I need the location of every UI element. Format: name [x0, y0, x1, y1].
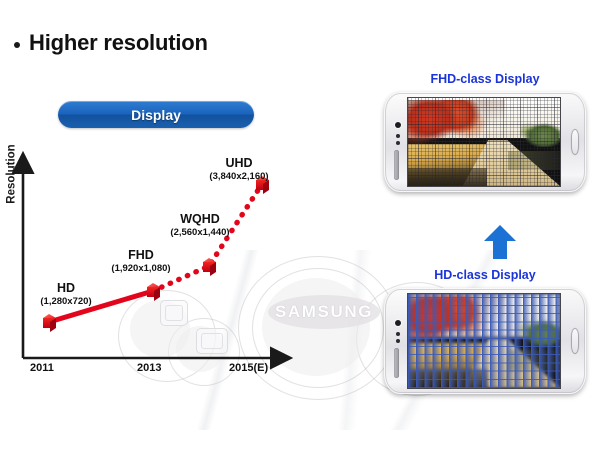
chart-y-axis-label: Resolution [6, 144, 18, 203]
front-camera-icon [395, 320, 401, 326]
x-tick-2015e: 2015(E) [229, 362, 268, 374]
chart-marker-fhd [147, 283, 160, 301]
hd-phone-device [384, 288, 586, 394]
page-title-text: Higher resolution [29, 30, 208, 56]
fhd-display-panel: FHD-class Display [372, 72, 598, 192]
fhd-phone-device [384, 92, 586, 192]
hd-display-panel: HD-class Display [372, 268, 598, 398]
hd-caption: HD-class Display [372, 268, 598, 282]
data-label-hd-name: HD [18, 281, 114, 296]
fine-pixel-grid-overlay [408, 98, 560, 186]
fhd-phone-screen [408, 98, 560, 186]
data-label-uhd: UHD (3,840x2,160) [183, 156, 295, 182]
data-label-uhd-name: UHD [183, 156, 295, 171]
front-camera-icon [395, 122, 401, 128]
slide-canvas: SAMSUNG Higher resolution Display [0, 0, 600, 450]
hd-phone-screen [408, 294, 560, 388]
data-label-fhd-name: FHD [86, 248, 196, 263]
bullet-icon [14, 42, 20, 48]
home-button[interactable] [571, 129, 579, 155]
coarse-pixel-grid-overlay [408, 294, 560, 388]
upgrade-arrow [483, 224, 517, 265]
x-tick-2011: 2011 [30, 362, 54, 374]
data-label-hd: HD (1,280x720) [18, 281, 114, 307]
x-tick-2013: 2013 [137, 362, 161, 374]
display-badge-label: Display [131, 107, 181, 123]
proximity-sensor-icon [396, 332, 400, 336]
home-button[interactable] [571, 328, 579, 354]
light-sensor-icon [396, 141, 400, 145]
proximity-sensor-icon [396, 134, 400, 138]
light-sensor-icon [396, 339, 400, 343]
page-title: Higher resolution [14, 30, 208, 56]
data-label-wqhd: WQHD (2,560x1,440) [144, 212, 256, 238]
data-label-fhd: FHD (1,920x1,080) [86, 248, 196, 274]
up-arrow-icon [483, 224, 517, 260]
data-label-hd-res: (1,280x720) [18, 296, 114, 307]
data-label-fhd-res: (1,920x1,080) [86, 263, 196, 274]
data-label-wqhd-name: WQHD [144, 212, 256, 227]
earpiece-speaker [394, 348, 399, 378]
chart-marker-hd [43, 314, 56, 332]
data-label-uhd-res: (3,840x2,160) [183, 171, 295, 182]
data-label-wqhd-res: (2,560x1,440) [144, 227, 256, 238]
earpiece-speaker [394, 150, 399, 180]
fhd-caption: FHD-class Display [372, 72, 598, 86]
display-badge: Display [58, 101, 254, 128]
